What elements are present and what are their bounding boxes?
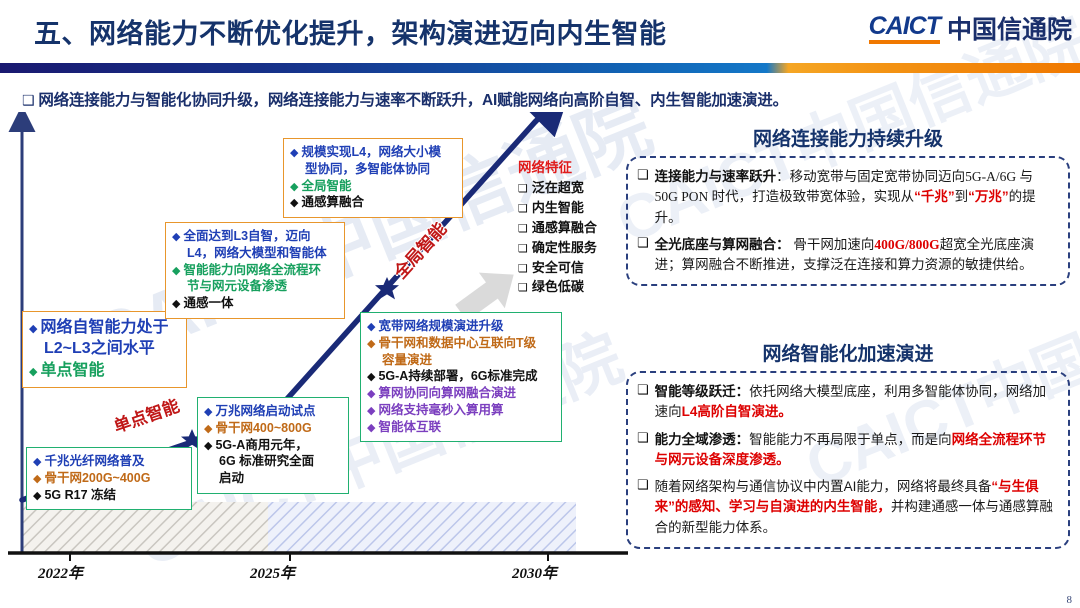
box-line: ◆通感算融合: [290, 194, 455, 211]
panel-item: ❑ 能力全域渗透：智能能力不再局限于单点，而是向网络全流程环节与网元设备深度渗透…: [637, 430, 1057, 471]
diamond-icon: ◆: [290, 196, 298, 209]
box-line: ◆5G-A持续部署，6G标准完成: [367, 368, 554, 385]
diamond-icon: ◆: [367, 421, 375, 434]
box-line-text: 单点智能: [40, 362, 104, 379]
caict-logo: CAICT 中国信通院: [869, 14, 1072, 44]
panel-item: ❑ 全光底座与算网融合： 骨干网加速向400G/800G超宽全光底座演进；算网融…: [637, 235, 1057, 276]
panel-item: ❑ 连接能力与速率跃升：移动宽带与固定宽带协同迈向5G-A/6G 与 50G P…: [637, 167, 1057, 228]
box-line: L4，网络大模型和智能体: [172, 245, 337, 262]
box-line-text: 全局智能: [301, 179, 351, 193]
box-line-text: 6G 标准研究全面: [219, 454, 314, 468]
diamond-icon: ◆: [204, 439, 212, 452]
box-line-text: 骨干网和数据中心互联向T级: [378, 336, 536, 350]
x-tick-2022: 2022年: [38, 562, 83, 583]
header-divider-bar: [0, 63, 1080, 73]
diamond-icon: ◆: [33, 472, 41, 485]
seg: 骨干网加速向: [790, 237, 875, 252]
diamond-icon: ◆: [367, 370, 375, 383]
seg: L4高阶自智演进。: [682, 404, 792, 419]
diamond-icon: ◆: [367, 320, 375, 333]
box-line-text: 全面达到L3自智，迈向: [183, 229, 310, 243]
diamond-icon: ◆: [29, 365, 37, 378]
box-line-text: 通感一体: [183, 296, 233, 310]
seg: 时代，打造极致带宽体验，实现从: [712, 189, 915, 204]
feature-item-label: 泛在超宽: [532, 180, 584, 195]
feature-item-label: 通感算融合: [532, 220, 597, 235]
logo-cn-text: 中国信通院: [947, 17, 1072, 45]
panel-item-text: 连接能力与速率跃升：移动宽带与固定宽带协同迈向5G-A/6G 与 50G PON…: [655, 167, 1057, 228]
box-line: ◆骨干网200G~400G: [33, 470, 184, 487]
box-line-text: 千兆光纤网络普及: [44, 454, 144, 468]
box-line: ◆万兆网络启动试点: [204, 403, 341, 420]
seg: 到: [955, 189, 969, 204]
feature-item-label: 安全可信: [532, 260, 584, 275]
box-line-text: 5G-A商用元年，: [215, 438, 307, 452]
diamond-icon: ◆: [172, 297, 180, 310]
box-line-text: 骨干网400~800G: [215, 421, 311, 435]
feature-item: ❑泛在超宽: [518, 178, 597, 198]
diamond-icon: ◆: [172, 264, 180, 277]
diamond-icon: ◆: [33, 489, 41, 502]
checkbox-square-icon: ❑: [637, 382, 649, 423]
seg: 智能能力不再局限于单点，而是向: [749, 432, 952, 447]
panel-connectivity: 网络连接能力持续升级 ❑ 连接能力与速率跃升：移动宽带与固定宽带协同迈向5G-A…: [626, 124, 1070, 286]
checkbox-square-icon: ❑: [637, 235, 649, 276]
box-line: ◆算网协同向算网融合演进: [367, 385, 554, 402]
checkbox-square-icon: ❑: [637, 477, 649, 538]
slide-header: 五、网络能力不断优化提升，架构演进迈向内生智能 CAICT 中国信通院: [0, 0, 1080, 62]
box-line-text: L2~L3之间水平: [44, 340, 155, 357]
lead-statement-text: 网络连接能力与智能化协同升级，网络连接能力与速率不断跃升，AI赋能网络向高阶自智…: [38, 92, 788, 109]
box-2030-network: ◆宽带网络规模演进升级 ◆骨干网和数据中心互联向T级 容量演进 ◆5G-A持续部…: [360, 312, 562, 442]
box-line: L2~L3之间水平: [29, 338, 179, 359]
panel-connectivity-body: ❑ 连接能力与速率跃升：移动宽带与固定宽带协同迈向5G-A/6G 与 50G P…: [626, 156, 1070, 286]
seg: ：移动宽带与固定宽带协同迈向: [776, 169, 965, 184]
page-title: 五、网络能力不断优化提升，架构演进迈向内生智能: [34, 12, 667, 51]
diamond-icon: ◆: [204, 405, 212, 418]
panel-intelligence-title: 网络智能化加速演进: [626, 339, 1070, 366]
diamond-icon: ◆: [367, 404, 375, 417]
box-line: ◆单点智能: [29, 360, 179, 381]
seg: 连接能力与速率跃升: [655, 169, 777, 184]
box-2025-capability: ◆全面达到L3自智，迈向 L4，网络大模型和智能体 ◆智能能力向网络全流程环 节…: [165, 222, 345, 319]
box-line: 启动: [204, 470, 341, 487]
checkbox-square-icon: ❑: [637, 167, 649, 228]
box-line: 型协同，多智能体协同: [290, 161, 455, 178]
box-line-text: 5G R17 冻结: [44, 488, 116, 502]
feature-item-label: 确定性服务: [532, 240, 597, 255]
page-number: 8: [1067, 594, 1073, 606]
checkbox-square-icon: ❑: [518, 281, 528, 294]
panel-item-text: 随着网络架构与通信协议中内置AI能力，网络将最终具备“与生俱来”的感知、学习与自…: [655, 477, 1057, 538]
lead-statement: ❑网络连接能力与智能化协同升级，网络连接能力与速率不断跃升，AI赋能网络向高阶自…: [22, 88, 1068, 110]
logo-abbr-text: CAICT: [869, 14, 940, 44]
network-features-title: 网络特征: [518, 156, 597, 176]
diamond-icon: ◆: [367, 387, 375, 400]
x-tick-2030: 2030年: [512, 562, 557, 583]
seg: 能力全域渗透：: [655, 432, 750, 447]
box-line: ◆5G R17 冻结: [33, 487, 184, 504]
feature-item: ❑通感算融合: [518, 218, 597, 238]
seg: 智能等级跃迁：: [655, 384, 750, 399]
box-2022-network: ◆千兆光纤网络普及 ◆骨干网200G~400G ◆5G R17 冻结: [26, 447, 192, 510]
diamond-icon: ◆: [290, 180, 298, 193]
box-line: ◆网络自智能力处于: [29, 317, 179, 338]
checkbox-square-icon: ❑: [518, 202, 528, 215]
box-line-text: 宽带网络规模演进升级: [378, 319, 503, 333]
panel-intelligence-body: ❑ 智能等级跃迁：依托网络大模型底座，利用多智能体协同，网络加速向L4高阶自智演…: [626, 371, 1070, 549]
panel-item: ❑ 随着网络架构与通信协议中内置AI能力，网络将最终具备“与生俱来”的感知、学习…: [637, 477, 1057, 538]
box-line: ◆骨干网和数据中心互联向T级: [367, 335, 554, 352]
box-line: ◆千兆光纤网络普及: [33, 453, 184, 470]
feature-item: ❑确定性服务: [518, 238, 597, 258]
box-line: 容量演进: [367, 352, 554, 369]
checkbox-square-icon: ❑: [518, 242, 528, 255]
box-line-text: 启动: [219, 471, 244, 485]
seg: 随着网络架构与通信协议中内置AI能力，网络将最终具备: [655, 479, 992, 494]
box-line-text: L4，网络大模型和智能体: [187, 246, 327, 260]
box-line: ◆骨干网400~800G: [204, 420, 341, 437]
box-line: ◆全面达到L3自智，迈向: [172, 228, 337, 245]
seg: “万兆”: [968, 189, 1009, 204]
box-line-text: 规模实现L4，网络大小模: [301, 145, 441, 159]
diamond-icon: ◆: [33, 455, 41, 468]
seg: “千兆”: [914, 189, 955, 204]
checkbox-square-icon: ❑: [637, 430, 649, 471]
box-line: ◆全局智能: [290, 178, 455, 195]
feature-item-label: 绿色低碳: [532, 279, 584, 294]
diamond-icon: ◆: [290, 146, 298, 159]
feature-item-label: 内生智能: [532, 200, 584, 215]
box-line: ◆通感一体: [172, 295, 337, 312]
box-line: ◆宽带网络规模演进升级: [367, 318, 554, 335]
box-line-text: 网络自智能力处于: [40, 319, 168, 336]
panel-item-text: 全光底座与算网融合： 骨干网加速向400G/800G超宽全光底座演进；算网融合不…: [655, 235, 1057, 276]
box-line: 6G 标准研究全面: [204, 453, 341, 470]
diamond-icon: ◆: [172, 230, 180, 243]
panel-item: ❑ 智能等级跃迁：依托网络大模型底座，利用多智能体协同，网络加速向L4高阶自智演…: [637, 382, 1057, 423]
seg: 全光底座与算网融合：: [655, 237, 790, 252]
panel-item-text: 能力全域渗透：智能能力不再局限于单点，而是向网络全流程环节与网元设备深度渗透。: [655, 430, 1057, 471]
box-line: ◆智能体互联: [367, 419, 554, 436]
box-line: ◆网络支持毫秒入算用算: [367, 402, 554, 419]
box-2030-capability: ◆规模实现L4，网络大小模 型协同，多智能体协同 ◆全局智能 ◆通感算融合: [283, 138, 463, 218]
box-line-text: 通感算融合: [301, 195, 364, 209]
box-line-text: 万兆网络启动试点: [215, 404, 315, 418]
box-line-text: 智能体互联: [378, 420, 441, 434]
box-line-text: 容量演进: [382, 353, 432, 367]
checkbox-square-icon: ❑: [518, 182, 528, 195]
feature-item: ❑绿色低碳: [518, 277, 597, 297]
box-line-text: 网络支持毫秒入算用算: [378, 403, 503, 417]
diamond-icon: ◆: [367, 337, 375, 350]
box-line-text: 5G-A持续部署，6G标准完成: [378, 369, 537, 383]
checkbox-square-icon: ❑: [518, 222, 528, 235]
feature-item: ❑安全可信: [518, 258, 597, 278]
panel-intelligence: 网络智能化加速演进 ❑ 智能等级跃迁：依托网络大模型底座，利用多智能体协同，网络…: [626, 339, 1070, 549]
box-line-text: 骨干网200G~400G: [44, 471, 150, 485]
box-line: ◆规模实现L4，网络大小模: [290, 144, 455, 161]
diamond-icon: ◆: [204, 422, 212, 435]
box-2022-capability: ◆网络自智能力处于 L2~L3之间水平 ◆单点智能: [22, 311, 187, 388]
checkbox-square-icon: ❑: [518, 262, 528, 275]
box-line-text: 型协同，多智能体协同: [305, 162, 430, 176]
box-2025-network: ◆万兆网络启动试点 ◆骨干网400~800G ◆5G-A商用元年， 6G 标准研…: [197, 397, 349, 494]
x-tick-2025: 2025年: [250, 562, 295, 583]
network-features-list: 网络特征 ❑泛在超宽 ❑内生智能 ❑通感算融合 ❑确定性服务 ❑安全可信 ❑绿色…: [518, 156, 597, 297]
panel-connectivity-title: 网络连接能力持续升级: [626, 124, 1070, 151]
box-line: ◆智能能力向网络全流程环: [172, 262, 337, 279]
box-line: 节与网元设备渗透: [172, 278, 337, 295]
diamond-icon: ◆: [29, 322, 37, 335]
seg: 400G/800G: [874, 237, 939, 252]
box-line-text: 智能能力向网络全流程环: [183, 263, 321, 277]
feature-item: ❑内生智能: [518, 198, 597, 218]
box-line-text: 算网协同向算网融合演进: [378, 386, 516, 400]
panel-item-text: 智能等级跃迁：依托网络大模型底座，利用多智能体协同，网络加速向L4高阶自智演进。: [655, 382, 1057, 423]
checkbox-square-icon: ❑: [22, 93, 34, 109]
box-line-text: 节与网元设备渗透: [187, 279, 287, 293]
box-line: ◆5G-A商用元年，: [204, 437, 341, 454]
